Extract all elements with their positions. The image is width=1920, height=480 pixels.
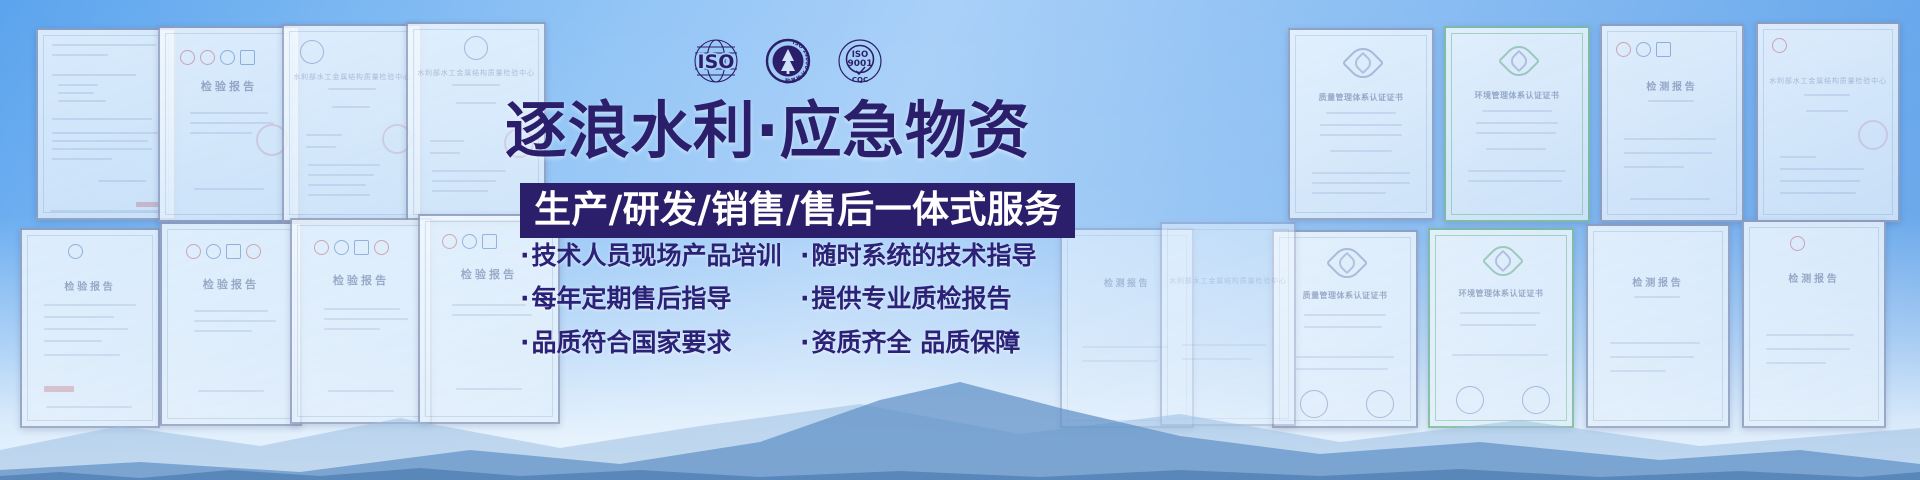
certificate-title: 检验报告 (162, 276, 300, 292)
svg-text:CQC: CQC (852, 76, 868, 84)
cert-logo-icon (220, 50, 235, 65)
certificate-subtitle: 水利部水工金属结构质量检验中心 (284, 72, 420, 82)
list-item: ·品质符合国家要求 (520, 330, 800, 356)
iso-globe-icon: ISO (688, 35, 744, 87)
cert-logo-icon (246, 244, 261, 259)
certificate-title: 检验报告 (22, 278, 158, 293)
subtitle-bar: 生产/研发/销售/售后一体式服务 (520, 183, 1075, 238)
certificate-title: 检验报告 (292, 272, 430, 288)
cert-logo-icon (186, 244, 201, 259)
cert-logo-icon (354, 240, 369, 255)
cert-border (43, 35, 169, 213)
bullet-marker-icon: · (520, 284, 530, 313)
cert-logo-icon (1790, 236, 1805, 251)
certificate-title: 质量管理体系认证证书 (1290, 92, 1432, 103)
list-item-label: 提供专业质检报告 (812, 284, 1012, 313)
bullet-marker-icon: · (520, 328, 530, 357)
cert-logo-icon (206, 244, 221, 259)
list-item-label: 品质符合国家要求 (532, 328, 732, 357)
certificate-subtitle: 水利部水工金属结构质量检验中心 (1162, 276, 1294, 286)
certificate-title: 检验报告 (160, 78, 298, 94)
certificate-title: 环境管理体系认证证书 (1446, 90, 1588, 101)
certificate-thumb-test-report-3: 检测报告 (1600, 24, 1744, 222)
cert-logo-icon (482, 234, 497, 249)
cert-logo-icon (1616, 42, 1631, 57)
cert-logo-icon (334, 240, 349, 255)
certificate-thumb-test-report-1: 水利部水工金属结构质量检验中心 (282, 24, 422, 222)
cert-logo-icon (374, 240, 389, 255)
svg-text:QUALITY ASSURED SYSTEM: QUALITY ASSURED SYSTEM (832, 35, 834, 36)
list-item-label: 技术人员现场产品培训 (532, 241, 782, 270)
cert-border (1607, 31, 1737, 215)
iso-14000-badge: ISO 14000 环境管理 (760, 35, 816, 87)
cert-logo-icon (1636, 42, 1651, 57)
list-item-label: 资质齐全 品质保障 (812, 328, 1021, 357)
certification-badges: ISO ISO 14000 环境管理 ISO 9001 (688, 33, 888, 89)
list-item-label: 随时系统的技术指导 (812, 241, 1037, 270)
bullet-marker-icon: · (800, 328, 810, 357)
list-item: ·技术人员现场产品培训 (520, 243, 800, 269)
cert-logo-icon (226, 244, 241, 259)
cert-logo-icon (180, 50, 195, 65)
certificate-thumb-quality-management: 质量管理体系认证证书 (1288, 28, 1434, 220)
cert-logo-icon (240, 50, 255, 65)
certificate-thumb-environment-management: 环境管理体系认证证书 (1444, 26, 1590, 222)
iso-globe-badge: ISO (688, 35, 744, 87)
bullet-marker-icon: · (800, 241, 810, 270)
iso-9001-cqc-badge: ISO 9001 CQC QUALITY ASSURED SYSTEM (832, 35, 888, 87)
cert-logo-icon (68, 244, 83, 259)
certificate-thumb-inspection-report-1: 检验报告 (158, 26, 300, 222)
certificate-thumb-inspection-report-en (36, 28, 176, 220)
svg-text:9001: 9001 (847, 59, 872, 69)
cert-logo-icon (1656, 42, 1671, 57)
certificate-thumb-test-report-4: 水利部水工金属结构质量检验中心 (1756, 22, 1900, 222)
certificate-title: 检测报告 (1744, 270, 1884, 285)
list-item: ·资质齐全 品质保障 (800, 330, 1080, 356)
cert-logo-icon (314, 240, 329, 255)
list-item: ·随时系统的技术指导 (800, 243, 1080, 269)
page-title: 逐浪水利·应急物资 (505, 100, 1075, 162)
certificate-title: 检测报告 (1588, 274, 1728, 289)
bullet-marker-icon: · (800, 284, 810, 313)
certificate-subtitle: 水利部水工金属结构质量检验中心 (408, 68, 544, 78)
certificate-subtitle: 水利部水工金属结构质量检验中心 (1758, 76, 1898, 86)
certificate-title: 环境管理体系认证证书 (1430, 288, 1572, 299)
list-item: ·每年定期售后指导 (520, 286, 800, 312)
bullet-marker-icon: · (520, 241, 530, 270)
cert-logo-icon (1772, 38, 1787, 53)
list-item-label: 每年定期售后指导 (532, 284, 732, 313)
cert-logo-icon (200, 50, 215, 65)
cert-logo-icon (462, 234, 477, 249)
certificate-title: 检测报告 (1602, 78, 1742, 93)
cert-logo-icon (442, 234, 457, 249)
svg-text:ISO: ISO (698, 51, 735, 73)
feature-list: ·技术人员现场产品培训 ·随时系统的技术指导 ·每年定期售后指导 ·提供专业质检… (520, 243, 1080, 356)
promotional-banner: 检验报告 水利部水工金属结构质量检验中心 水利部水工金属结构质量检验中心 (0, 0, 1920, 480)
iso-9001-cqc-icon: ISO 9001 CQC QUALITY ASSURED SYSTEM (832, 35, 888, 87)
list-item: ·提供专业质检报告 (800, 286, 1080, 312)
iso-14000-environment-icon: ISO 14000 环境管理 (760, 35, 816, 87)
